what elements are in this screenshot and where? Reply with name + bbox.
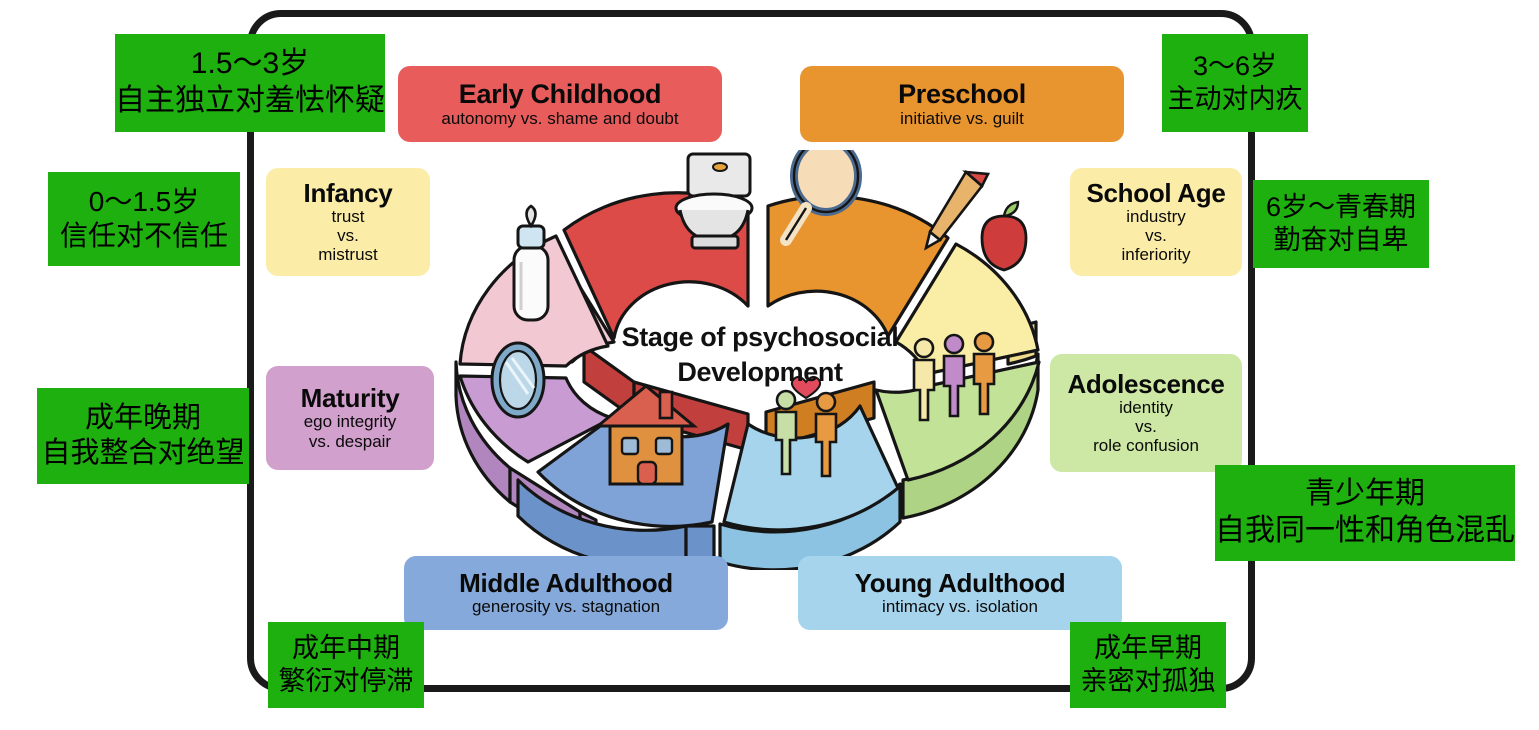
zh-label-middle-adulthood[interactable]: 成年中期 繁衍对停滞 <box>268 622 424 708</box>
stage-card-early-childhood[interactable]: Early Childhood autonomy vs. shame and d… <box>398 66 722 142</box>
mirror-icon <box>492 343 544 417</box>
zh-crisis-infancy: 信任对不信任 <box>60 219 228 253</box>
stage-title-infancy: Infancy <box>304 180 393 207</box>
zh-age-maturity: 成年晚期 <box>85 401 201 436</box>
zh-age-adolescence: 青少年期 <box>1305 476 1425 513</box>
stage-subtitle-school-age: industry vs. inferiority <box>1122 207 1191 264</box>
stage-card-young-adulthood[interactable]: Young Adulthood intimacy vs. isolation <box>798 556 1122 630</box>
zh-age-infancy: 0～1.5岁 <box>89 185 200 219</box>
zh-crisis-young-adulthood: 亲密对孤独 <box>1081 665 1216 698</box>
stage-title-maturity: Maturity <box>301 385 400 412</box>
center-title: Stage of psychosocial Development <box>560 320 960 389</box>
stage-subtitle-preschool: initiative vs. guilt <box>900 109 1024 128</box>
stage-subtitle-young-adulthood: intimacy vs. isolation <box>882 597 1038 616</box>
zh-label-maturity[interactable]: 成年晚期 自我整合对绝望 <box>37 388 249 484</box>
zh-crisis-middle-adulthood: 繁衍对停滞 <box>279 665 414 698</box>
zh-crisis-preschool: 主动对内疚 <box>1168 83 1303 116</box>
zh-age-young-adulthood: 成年早期 <box>1094 632 1202 665</box>
zh-label-school-age[interactable]: 6岁～青春期 勤奋对自卑 <box>1253 180 1429 268</box>
zh-age-middle-adulthood: 成年中期 <box>292 632 400 665</box>
stage-title-preschool: Preschool <box>898 80 1026 108</box>
zh-age-early-childhood: 1.5～3岁 <box>191 46 309 83</box>
stage-subtitle-infancy: trust vs. mistrust <box>318 207 378 264</box>
stage-card-middle-adulthood[interactable]: Middle Adulthood generosity vs. stagnati… <box>404 556 728 630</box>
stage-subtitle-early-childhood: autonomy vs. shame and doubt <box>441 109 678 128</box>
baby-bottle-icon <box>514 206 548 320</box>
zh-crisis-adolescence: 自我同一性和角色混乱 <box>1215 513 1515 550</box>
stage-card-maturity[interactable]: Maturity ego integrity vs. despair <box>266 366 434 470</box>
zh-crisis-school-age: 勤奋对自卑 <box>1274 224 1409 257</box>
center-title-line2: Development <box>560 355 960 390</box>
stage-card-infancy[interactable]: Infancy trust vs. mistrust <box>266 168 430 276</box>
stage-card-adolescence[interactable]: Adolescence identity vs. role confusion <box>1050 354 1242 472</box>
stage-subtitle-maturity: ego integrity vs. despair <box>304 412 397 450</box>
stage-title-early-childhood: Early Childhood <box>459 80 662 108</box>
stage-title-middle-adulthood: Middle Adulthood <box>459 570 673 597</box>
stage-title-school-age: School Age <box>1086 180 1225 207</box>
zh-age-school-age: 6岁～青春期 <box>1266 191 1416 224</box>
stage-subtitle-adolescence: identity vs. role confusion <box>1093 398 1199 455</box>
zh-label-preschool[interactable]: 3～6岁 主动对内疚 <box>1162 34 1308 132</box>
diagram-canvas: .seg{stroke:#151515;stroke-width:3.2;str… <box>0 0 1539 730</box>
zh-age-preschool: 3～6岁 <box>1193 50 1277 83</box>
zh-label-infancy[interactable]: 0～1.5岁 信任对不信任 <box>48 172 240 266</box>
center-title-line1: Stage of psychosocial <box>560 320 960 355</box>
zh-label-young-adulthood[interactable]: 成年早期 亲密对孤独 <box>1070 622 1226 708</box>
zh-label-early-childhood[interactable]: 1.5～3岁 自主独立对羞怯怀疑 <box>115 34 385 132</box>
stage-card-school-age[interactable]: School Age industry vs. inferiority <box>1070 168 1242 276</box>
stage-title-young-adulthood: Young Adulthood <box>855 570 1066 597</box>
stage-title-adolescence: Adolescence <box>1067 371 1224 398</box>
stage-card-preschool[interactable]: Preschool initiative vs. guilt <box>800 66 1124 142</box>
zh-crisis-maturity: 自我整合对绝望 <box>42 436 245 471</box>
stage-subtitle-middle-adulthood: generosity vs. stagnation <box>472 597 660 616</box>
zh-label-adolescence[interactable]: 青少年期 自我同一性和角色混乱 <box>1215 465 1515 561</box>
zh-crisis-early-childhood: 自主独立对羞怯怀疑 <box>115 83 385 120</box>
